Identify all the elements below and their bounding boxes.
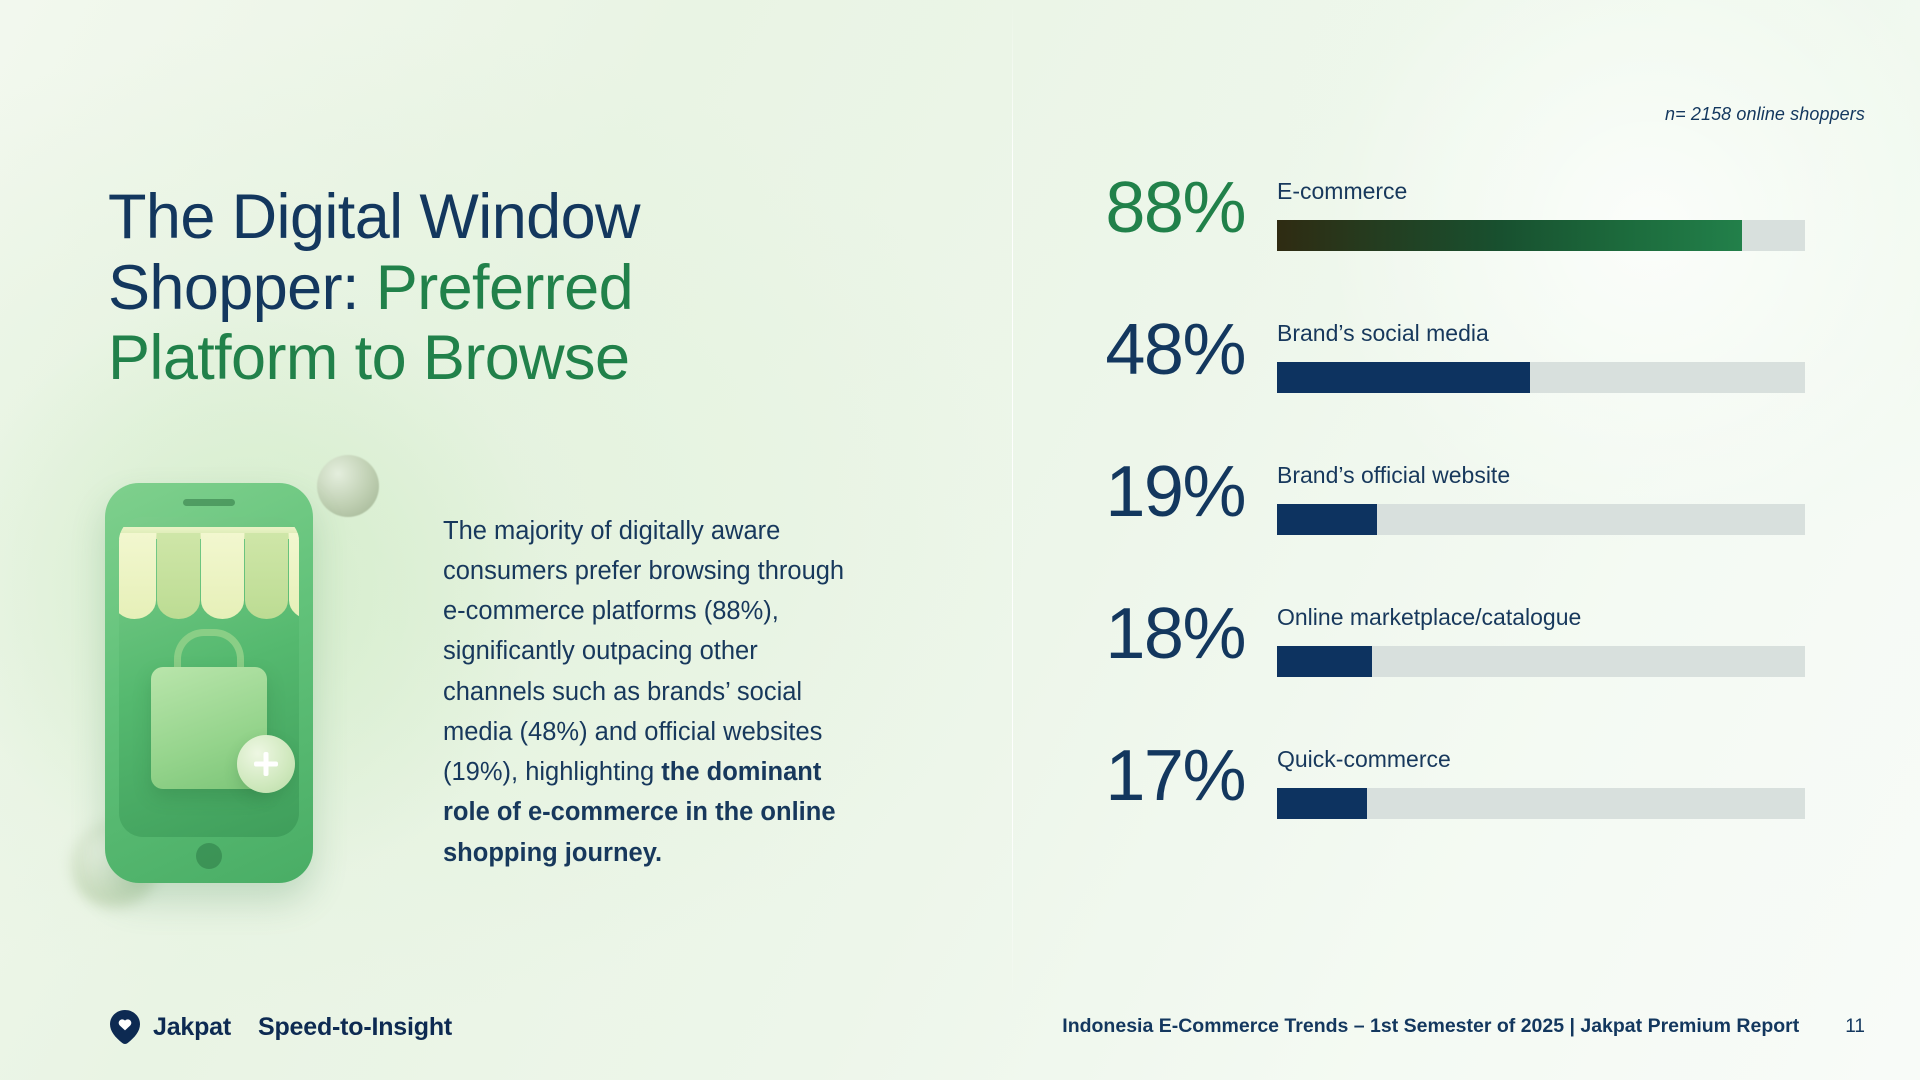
chart-row: 88% E-commerce [1055,168,1855,310]
footer-meta: Indonesia E-Commerce Trends – 1st Semest… [1062,1015,1865,1038]
chart-row: 48% Brand’s social media [1055,310,1855,452]
awning-stripe [245,533,288,619]
bar-value-label: 18% [1055,598,1245,670]
bar-category-label: Quick-commerce [1277,746,1451,773]
logo-wordmark: Jakpat [153,1013,231,1042]
column-divider [1012,0,1013,1000]
slide-canvas: The Digital Window Shopper: Preferred Pl… [0,0,1920,1080]
awning-stripe [119,533,156,619]
storefront-phone-illustration [95,455,385,915]
phone-speaker [183,499,235,506]
body-paragraph: The majority of digitally aware consumer… [443,511,853,874]
bar-track [1277,646,1805,677]
chart-row: 19% Brand’s official website [1055,452,1855,594]
bar-track [1277,788,1805,819]
bar-value-label: 88% [1055,172,1245,244]
page-number: 11 [1845,1016,1865,1038]
phone-home-button [196,843,222,869]
bar-category-label: Online marketplace/catalogue [1277,604,1581,631]
headline-line-3-accent: Platform to Browse [108,323,629,393]
plus-badge-icon [237,735,295,793]
phone-screen [119,517,299,837]
sample-size-note: n= 2158 online shoppers [1665,104,1865,125]
bar-category-label: E-commerce [1277,178,1407,205]
bar-fill [1277,788,1367,819]
footer-tagline: Speed-to-Insight [258,1013,452,1042]
awning-stripe [289,533,299,619]
headline-line-1: The Digital Window [108,182,640,252]
bar-value-label: 19% [1055,456,1245,528]
phone-device [105,483,313,883]
footer-brand: Jakpat Speed-to-Insight [110,1010,452,1044]
page-title: The Digital Window Shopper: Preferred Pl… [108,182,838,394]
jakpat-heart-icon [110,1010,140,1044]
bar-track [1277,362,1805,393]
decorative-sphere-top [317,455,379,517]
bar-fill [1277,646,1372,677]
headline-line-2-accent: Preferred [376,253,633,323]
bar-value-label: 48% [1055,314,1245,386]
bar-value-label: 17% [1055,740,1245,812]
shop-awning-icon [119,533,299,619]
bar-category-label: Brand’s official website [1277,462,1510,489]
bar-fill [1277,362,1530,393]
bar-track [1277,220,1805,251]
headline-line-2-dark: Shopper: [108,253,376,323]
awning-stripe [201,533,244,619]
chart-row: 17% Quick-commerce [1055,736,1855,878]
bar-track [1277,504,1805,535]
footer-report-caption: Indonesia E-Commerce Trends – 1st Semest… [1062,1015,1799,1038]
bar-fill [1277,504,1377,535]
bar-chart: 88% E-commerce 48% Brand’s social media … [1055,168,1855,878]
body-normal-text: The majority of digitally aware consumer… [443,517,844,787]
chart-row: 18% Online marketplace/catalogue [1055,594,1855,736]
bar-category-label: Brand’s social media [1277,320,1489,347]
awning-stripe [157,533,200,619]
bar-fill [1277,220,1742,251]
